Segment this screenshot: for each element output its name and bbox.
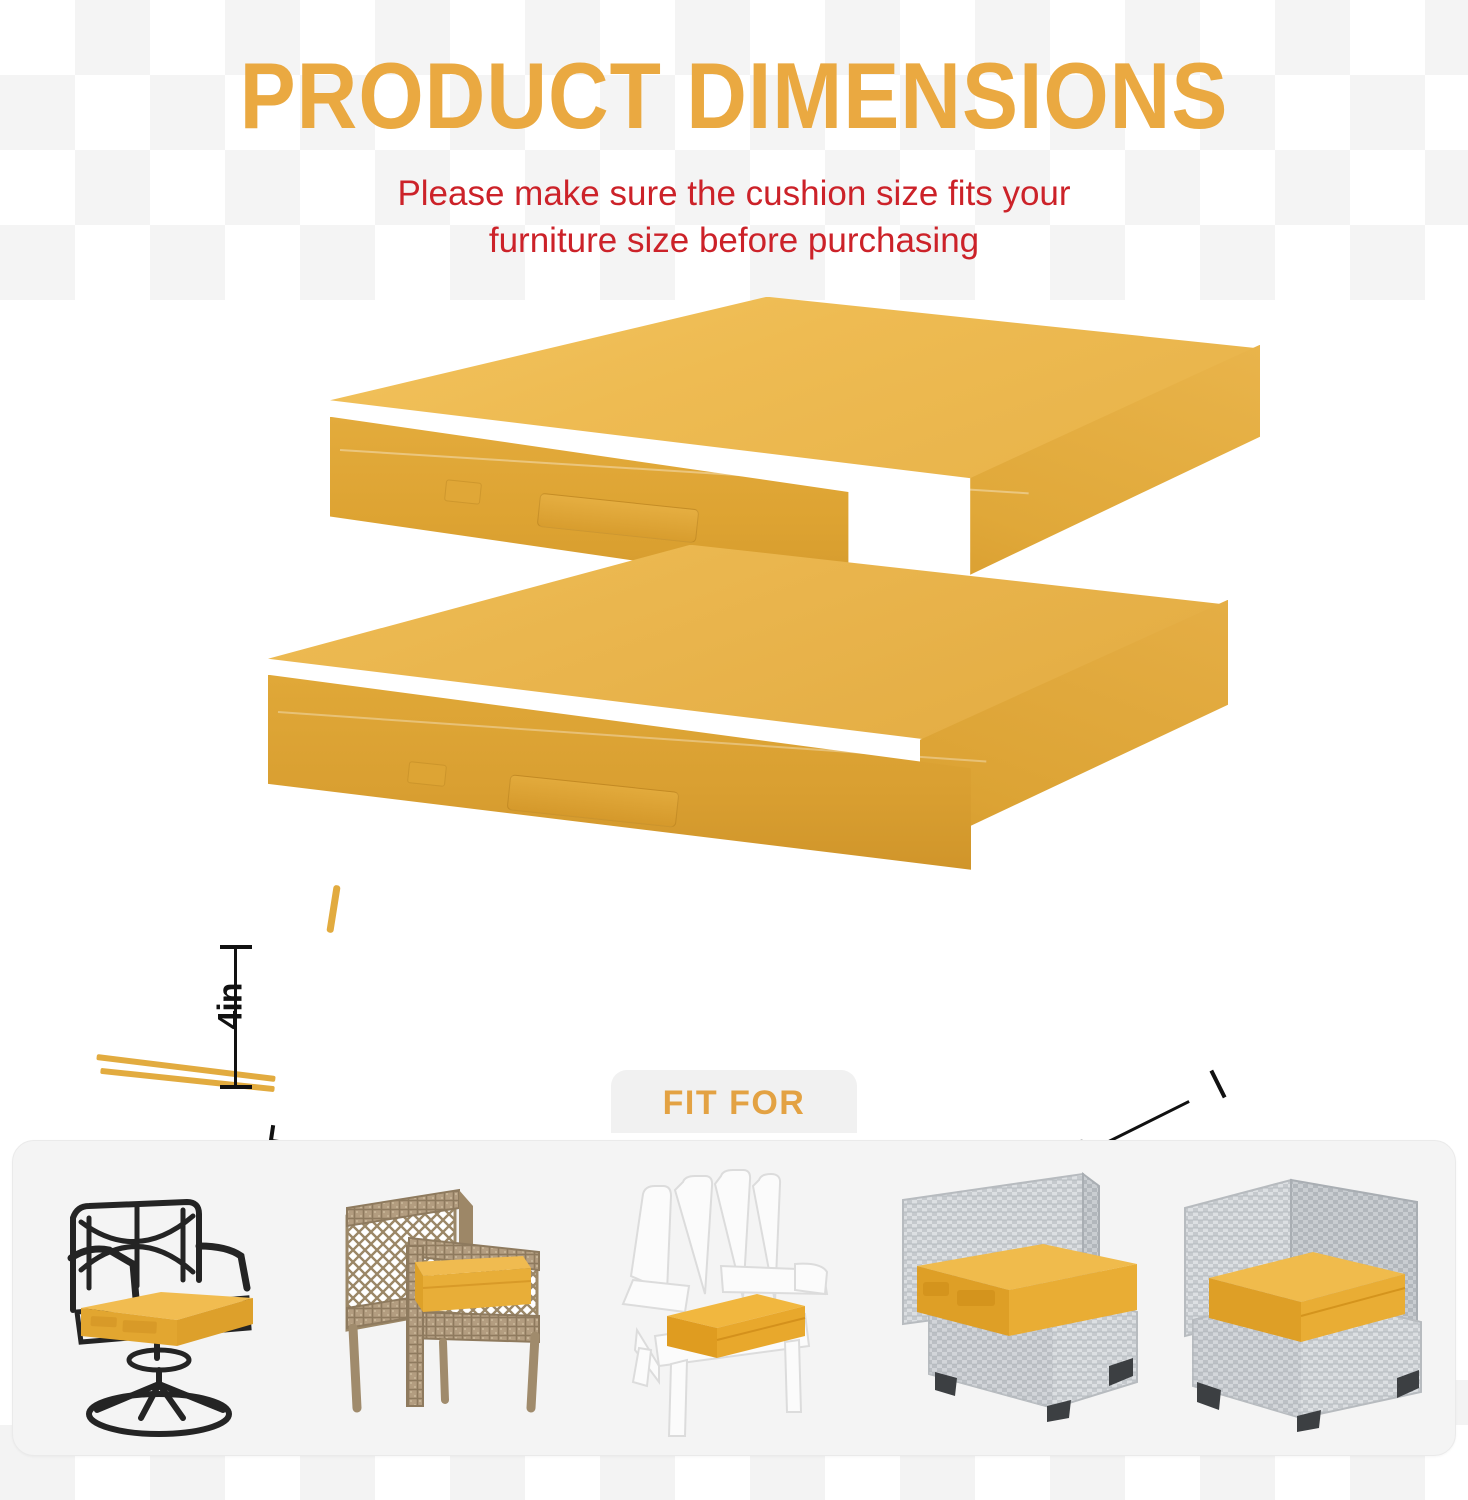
page-subtitle: Please make sure the cushion size fits y… [0, 170, 1468, 265]
fit-item-swivel-chair [26, 1149, 298, 1445]
fit-for-tab-wrapper: FIT FOR [0, 1070, 1468, 1133]
fit-item-wicker-dining-chair [312, 1149, 584, 1445]
fit-for-tab: FIT FOR [611, 1070, 858, 1133]
cushion-upper [330, 297, 1260, 567]
page-title: PRODUCT DIMENSIONS [0, 46, 1468, 145]
product-dimension-diagram: 4in 19in 19in [0, 287, 1468, 987]
cushion-lower-tag [407, 761, 447, 787]
fit-item-sectional-armless [884, 1149, 1156, 1445]
fit-for-panel [12, 1140, 1456, 1456]
subtitle-line-1: Please make sure the cushion size fits y… [0, 170, 1468, 217]
subtitle-line-2: furniture size before purchasing [0, 217, 1468, 264]
fit-item-adirondack-chair [598, 1149, 870, 1445]
fabric-tie-between [326, 884, 340, 933]
fit-item-sectional-corner [1170, 1149, 1442, 1445]
header: PRODUCT DIMENSIONS Please make sure the … [0, 0, 1468, 265]
thickness-dimension-label: 4in [212, 983, 251, 1029]
cushion-upper-tag [444, 479, 482, 505]
cushion-lower [268, 545, 1228, 855]
thickness-cap-top [220, 945, 252, 949]
